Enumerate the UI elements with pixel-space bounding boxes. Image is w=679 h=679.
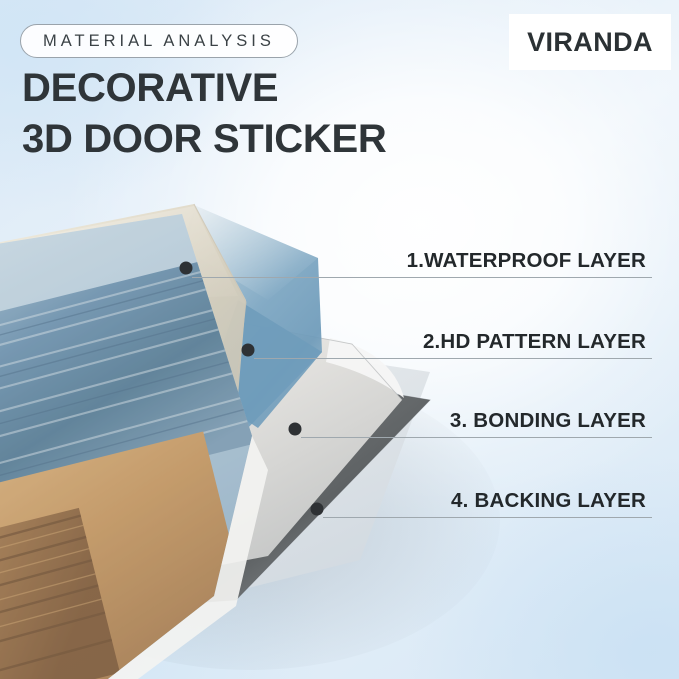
callout-rule-waterproof <box>192 277 652 278</box>
title-line-2: 3D DOOR STICKER <box>22 119 386 159</box>
callout-rule-bonding <box>301 437 652 438</box>
page-title: DECORATIVE 3D DOOR STICKER <box>22 68 386 159</box>
infographic-poster: MATERIAL ANALYSIS DECORATIVE 3D DOOR STI… <box>0 0 679 679</box>
callout-bonding: 3. BONDING LAYER <box>301 409 652 438</box>
callout-rule-backing <box>323 517 652 518</box>
callout-rule-hd-pattern <box>254 358 652 359</box>
callout-label-backing: 4. BACKING LAYER <box>323 489 652 517</box>
callout-dot-bonding <box>289 423 302 436</box>
callout-dot-backing <box>311 503 324 516</box>
callout-hd-pattern: 2.HD PATTERN LAYER <box>254 330 652 359</box>
title-line-1: DECORATIVE <box>22 68 386 108</box>
callout-backing: 4. BACKING LAYER <box>323 489 652 518</box>
badge-label: MATERIAL ANALYSIS <box>43 32 275 51</box>
callout-dot-waterproof <box>180 262 193 275</box>
callout-label-waterproof: 1.WATERPROOF LAYER <box>192 249 652 277</box>
brand-logo: VIRANDA <box>509 14 671 70</box>
material-analysis-badge: MATERIAL ANALYSIS <box>20 24 298 58</box>
callout-waterproof: 1.WATERPROOF LAYER <box>192 249 652 278</box>
callout-dot-hd-pattern <box>242 344 255 357</box>
brand-name: VIRANDA <box>527 27 653 58</box>
callout-label-bonding: 3. BONDING LAYER <box>301 409 652 437</box>
callout-label-hd-pattern: 2.HD PATTERN LAYER <box>254 330 652 358</box>
